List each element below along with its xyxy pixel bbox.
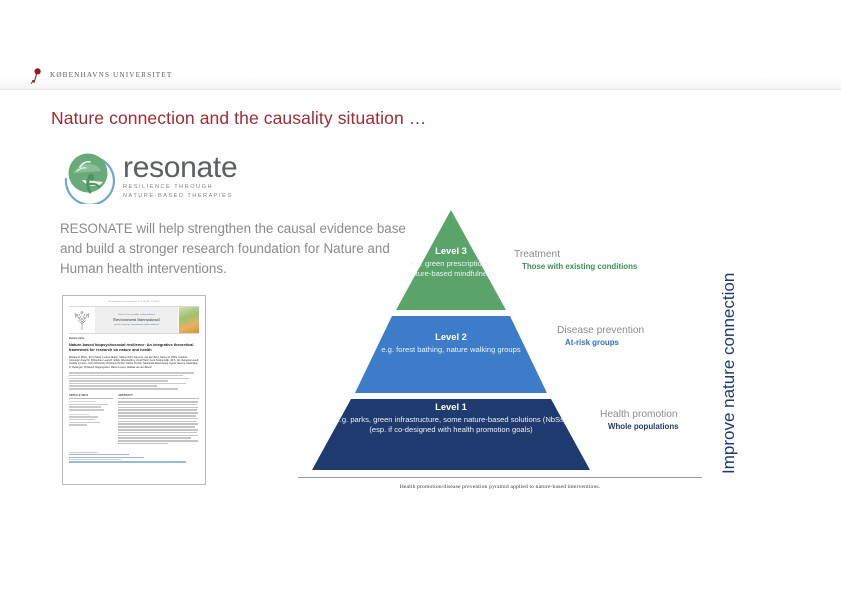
vertical-axis-label: Improve nature connection [699,212,721,474]
pyramid-figure: Level 3 e.g. green prescriptions, nature… [295,205,705,495]
paper-homepage: journal homepage: www.elsevier.com/locat… [114,324,159,326]
paper-abstract: ABSTRACT [118,394,199,446]
paper-article-type: Review article [69,338,199,340]
pyramid-level-3-subtitle: e.g. green prescriptions, nature-based m… [401,259,501,279]
paper-authors: Mathew P. White, Terry Hartig, Leanne Ma… [69,356,199,370]
pyramid-level-2-subtitle: e.g. forest bathing, nature walking grou… [376,345,526,355]
paper-article-info: ARTICLE INFO [69,394,113,446]
level-2-side-emphasis: At-risk groups [557,338,644,348]
level-3-side-emphasis: Those with existing conditions [514,262,637,272]
resonate-tagline-2: NATURE·BASED THERAPIES [123,192,237,201]
elsevier-tree-icon [69,307,95,333]
university-wordmark: KØBENHAVNS UNIVERSITET [50,72,172,79]
pyramid-level-3-title: Level 3 [411,245,491,256]
vertical-axis-text: Improve nature connection [719,273,739,474]
university-logo: KØBENHAVNS UNIVERSITET [30,68,172,84]
pyramid-level-1-side-label: Health promotion Whole populations [600,409,679,432]
paper-masthead: Contents lists available at ScienceDirec… [69,306,199,334]
paper-title: Nature-based biopsychosocial resilience:… [69,342,199,353]
paper-thumbnail[interactable]: Environment International 171 (2023) 107… [62,295,206,485]
paper-running-head: Environment International 171 (2023) 107… [69,301,199,303]
level-1-side-main: Health promotion [600,409,679,422]
paper-masthead-center: Contents lists available at ScienceDirec… [95,307,178,333]
resonate-logo: resonate RESILIENCE THROUGH NATURE·BASED… [60,149,265,204]
resonate-wordmark: resonate [123,153,237,183]
paper-columns: ARTICLE INFO ABSTRACT [69,394,199,446]
pyramid-level-1-title: Level 1 [401,401,501,412]
pyramid-level-2-title: Level 2 [401,331,501,342]
page-title: Nature connection and the causality situ… [51,108,426,129]
paper-footer [69,452,199,463]
paper-journal-name: Environment International [113,317,159,322]
figure-divider [298,477,702,478]
level-3-side-main: Treatment [514,249,637,262]
figure-caption: Health promotion/disease prevention pyra… [295,484,705,490]
paper-abstract-heading: ABSTRACT [118,394,199,399]
pyramid-level-2-side-label: Disease prevention At-risk groups [557,325,644,348]
level-1-side-emphasis: Whole populations [600,422,679,432]
resonate-tagline-1: RESILIENCE THROUGH [123,183,237,192]
slide-canvas: KØBENHAVNS UNIVERSITET Nature connection… [0,0,841,595]
level-2-side-main: Disease prevention [557,325,644,338]
paper-availability: Contents lists available at ScienceDirec… [118,314,155,316]
pyramid-level-3-side-label: Treatment Those with existing conditions [514,249,637,272]
paper-cover-image [178,307,199,333]
pyramid-level-1-subtitle: e.g. parks, green infrastructure, some n… [331,415,571,435]
ku-seal-icon [30,68,43,84]
paper-info-heading: ARTICLE INFO [69,394,113,399]
resonate-wordmark-block: resonate RESILIENCE THROUGH NATURE·BASED… [123,153,237,200]
paper-affiliations [69,372,199,389]
